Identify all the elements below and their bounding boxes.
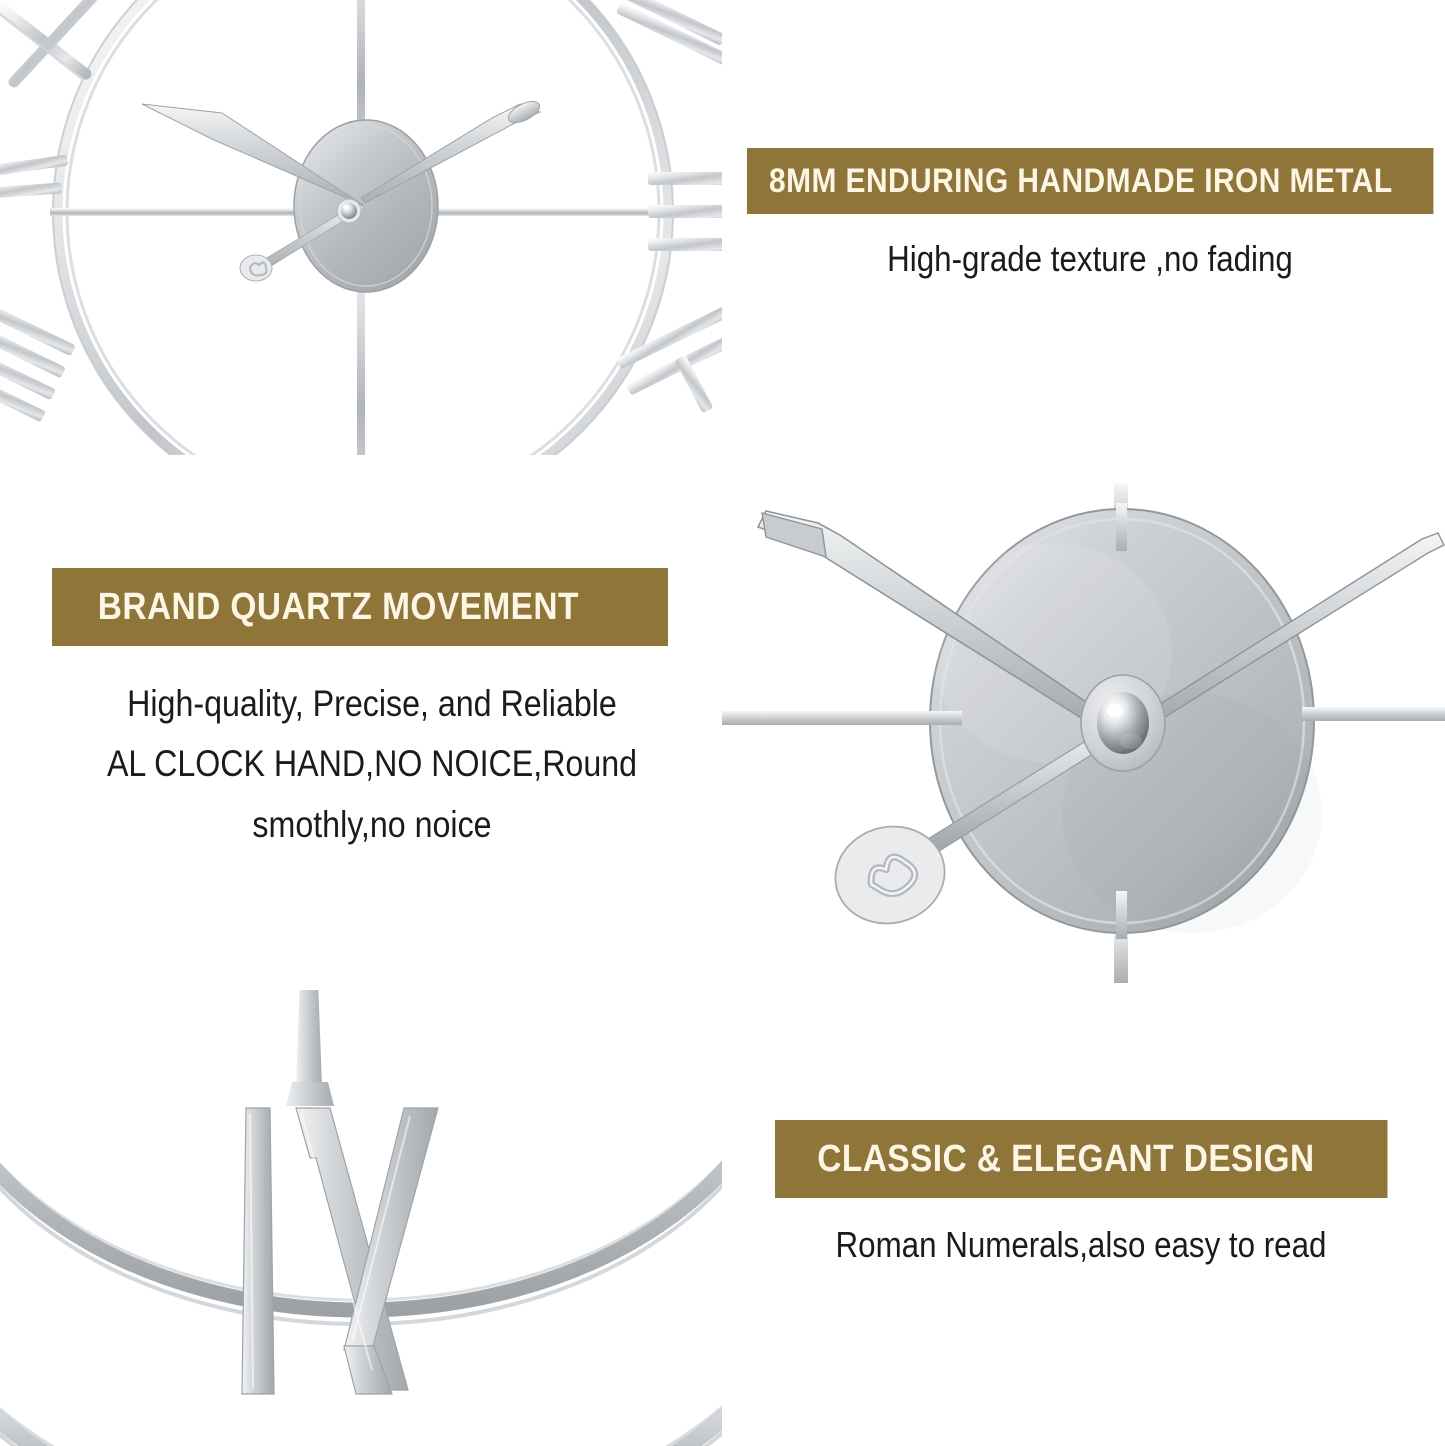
feature-block-quartz: BRAND QUARTZ MOVEMENT High-quality, Prec… <box>52 568 692 855</box>
feature-subline-design: Roman Numerals,also easy to read <box>815 1224 1347 1266</box>
feature-headline-text-metal: 8MM ENDURING HANDMADE IRON METAL <box>769 148 1433 214</box>
feature-subline-group-quartz: High-quality, Precise, and Reliable AL C… <box>52 674 692 855</box>
feature-subline-quartz-line-2: AL CLOCK HAND,NO NOICE,Round <box>94 734 651 794</box>
feature-headline-text-quartz: BRAND QUARTZ MOVEMENT <box>98 568 668 646</box>
feature-headline-banner-metal: 8MM ENDURING HANDMADE IRON METAL <box>747 148 1433 214</box>
feature-headline-text-design: CLASSIC & ELEGANT DESIGN <box>817 1120 1387 1198</box>
rim-numeral-closeup-photo <box>0 990 722 1446</box>
clock-face-closeup-photo <box>0 0 722 455</box>
feature-subline-quartz-line-3: smothly,no noice <box>94 795 651 855</box>
center-hub-closeup-photo <box>722 483 1445 983</box>
feature-block-design: CLASSIC & ELEGANT DESIGN Roman Numerals,… <box>775 1120 1387 1266</box>
product-infographic: 8MM ENDURING HANDMADE IRON METAL High-gr… <box>0 0 1445 1446</box>
feature-block-metal: 8MM ENDURING HANDMADE IRON METAL High-gr… <box>747 148 1433 280</box>
feature-headline-banner-quartz: BRAND QUARTZ MOVEMENT <box>52 568 668 646</box>
feature-subline-metal: High-grade texture ,no fading <box>792 238 1389 280</box>
feature-subline-quartz-line-1: High-quality, Precise, and Reliable <box>94 674 651 734</box>
feature-headline-banner-design: CLASSIC & ELEGANT DESIGN <box>775 1120 1387 1198</box>
